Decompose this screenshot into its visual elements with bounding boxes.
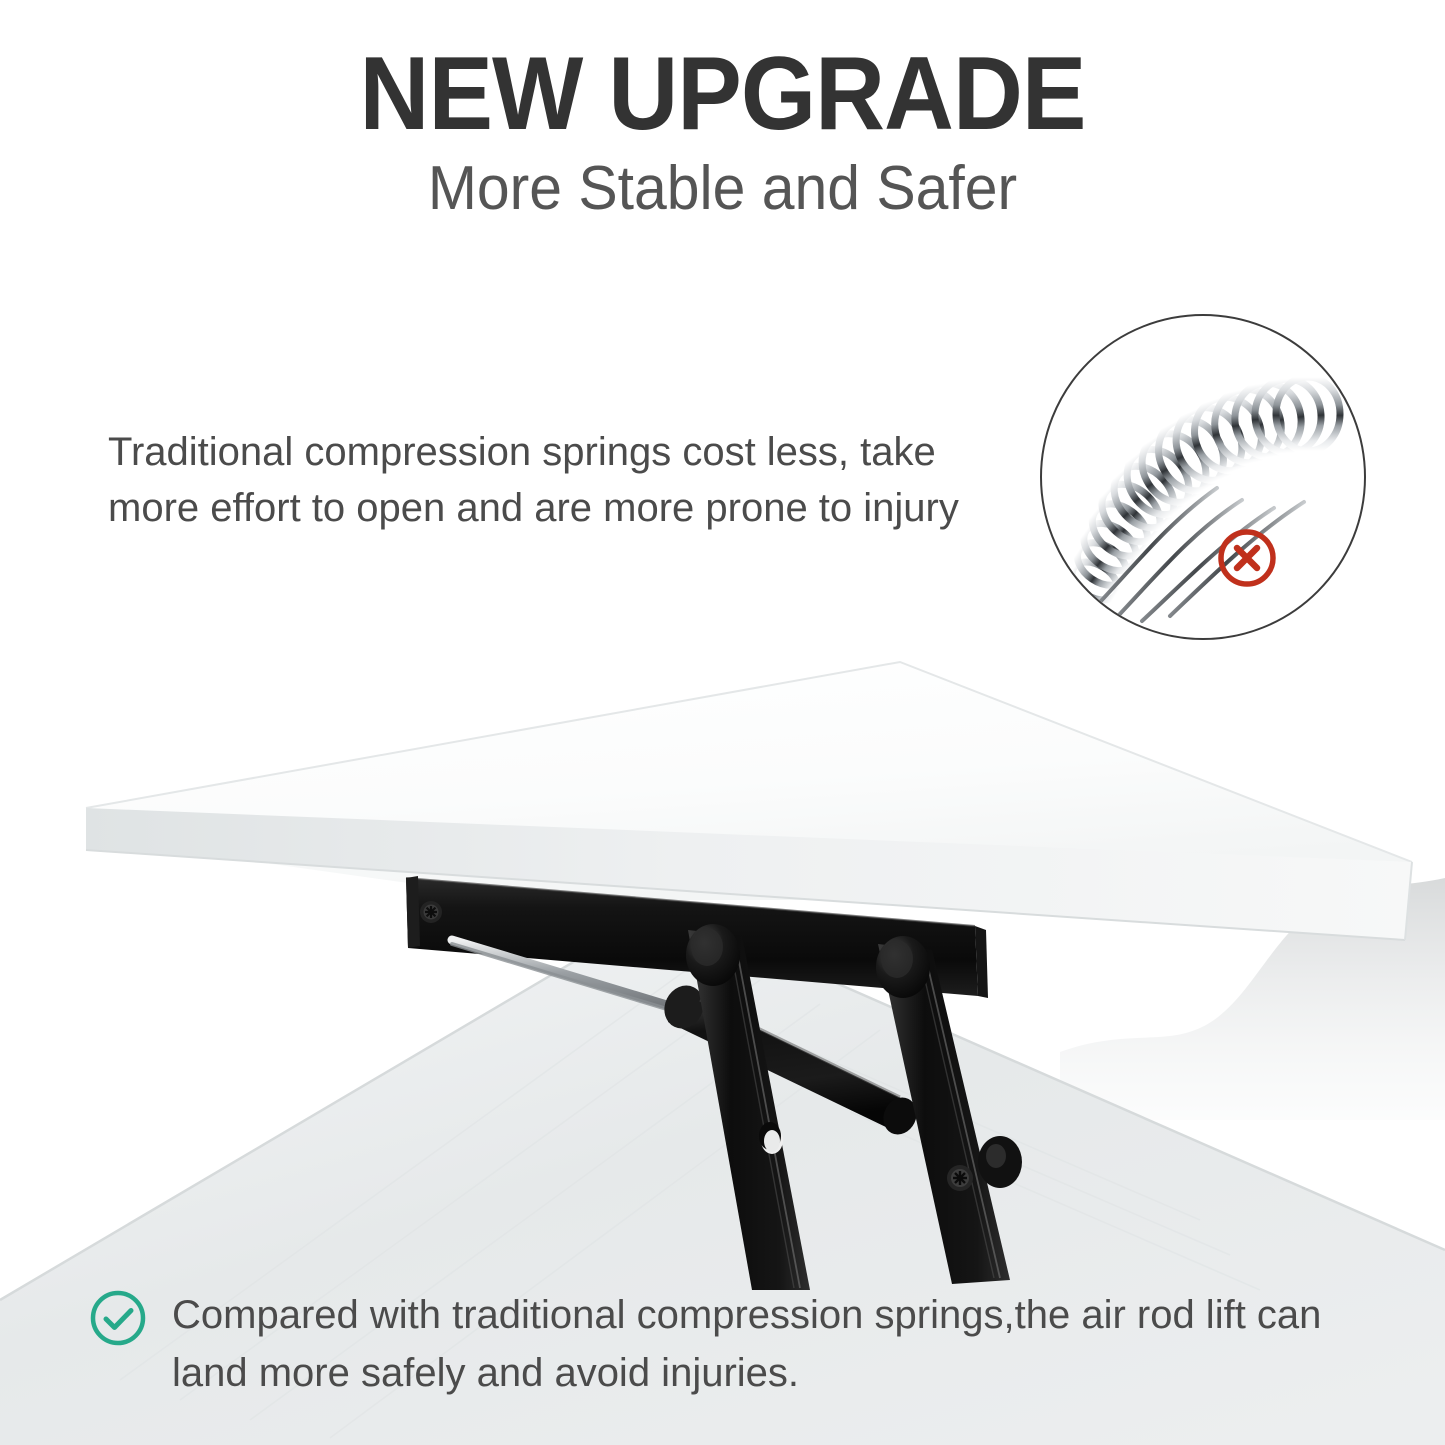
page-title: NEW UPGRADE [51, 42, 1395, 146]
compression-spring-illustration [1042, 316, 1364, 638]
circle-x-icon [1216, 527, 1278, 589]
screw-head [420, 901, 442, 923]
traditional-spring-note: Traditional compression springs cost les… [108, 424, 1008, 536]
circle-check-icon [88, 1288, 148, 1348]
air-rod-benefit-caption: Compared with traditional compression sp… [172, 1286, 1382, 1402]
screw-head [947, 1165, 973, 1191]
pivot-boss [876, 936, 930, 998]
tabletop-panel [86, 662, 1412, 940]
infographic-canvas: NEW UPGRADE More Stable and Safer Tradit… [0, 0, 1445, 1445]
page-subtitle: More Stable and Safer [36, 158, 1409, 220]
spring-inset-circle [1040, 314, 1366, 640]
pivot-roller [978, 1136, 1022, 1188]
pivot-boss [686, 924, 740, 986]
